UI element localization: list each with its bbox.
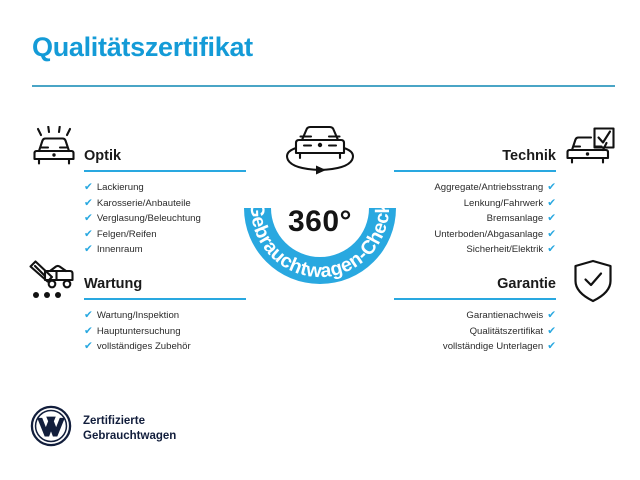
checklist-garantie: Garantienachweis✔ Qualitätszertifikat✔ v… [394,308,556,355]
qualitaetszertifikat-page: Qualitätszertifikat [0,0,640,480]
footer-line-1: Zertifizierte [83,414,176,429]
list-item-label: Hauptuntersuchung [97,326,181,337]
check-icon: ✔ [547,212,556,224]
section-title-wartung: Wartung [84,274,246,294]
check-icon: ✔ [547,325,556,337]
check-icon: ✔ [547,340,556,352]
section-divider-wartung [84,298,246,300]
list-item: vollständige Unterlagen✔ [394,339,556,355]
check-icon: ✔ [84,181,93,193]
section-header-garantie: Garantie [394,274,556,296]
list-item: Qualitätszertifikat✔ [394,324,556,340]
section-title-optik: Optik [84,146,246,166]
shield-check-icon [572,258,614,304]
list-item: Bremsanlage✔ [394,211,556,227]
check-icon: ✔ [84,309,93,321]
check-icon: ✔ [84,212,93,224]
check-icon: ✔ [547,243,556,255]
footer-line-2: Gebrauchtwagen [83,429,176,444]
list-item: ✔Innenraum [84,242,246,258]
car-rotate-360-icon [278,118,362,180]
list-item-label: Unterboden/Abgasanlage [434,229,543,240]
list-item-label: Garantienachweis [466,310,543,321]
check-icon: ✔ [84,197,93,209]
title-divider [32,85,615,87]
check-icon: ✔ [84,243,93,255]
badge-degrees-label: 360° [230,205,410,239]
section-title-technik: Technik [394,146,556,166]
section-header-wartung: Wartung [84,274,246,296]
list-item-label: Felgen/Reifen [97,229,157,240]
check-icon: ✔ [547,228,556,240]
list-item: ✔Lackierung [84,180,246,196]
section-garantie: Garantie Garantienachweis✔ Qualitätszert… [394,274,556,355]
list-item: Aggregate/Antriebsstrang✔ [394,180,556,196]
list-item-label: Innenraum [97,244,143,255]
footer-text: Zertifizierte Gebrauchtwagen [83,414,176,443]
section-header-optik: Optik [84,146,246,168]
section-divider-garantie [394,298,556,300]
check-icon: ✔ [84,228,93,240]
list-item-label: Lackierung [97,182,144,193]
list-item: ✔Verglasung/Beleuchtung [84,211,246,227]
section-title-garantie: Garantie [394,274,556,294]
list-item-label: vollständiges Zubehör [97,341,191,352]
list-item: Unterboden/Abgasanlage✔ [394,227,556,243]
footer-branding: Zertifizierte Gebrauchtwagen [30,405,176,452]
checklist-wartung: ✔Wartung/Inspektion ✔Hauptuntersuchung ✔… [84,308,246,355]
check-icon: ✔ [84,325,93,337]
list-item-label: Wartung/Inspektion [97,310,179,321]
vw-logo-icon [30,405,72,452]
section-header-technik: Technik [394,146,556,168]
list-item: ✔Hauptuntersuchung [84,324,246,340]
section-wartung: Wartung ✔Wartung/Inspektion ✔Hauptunters… [84,274,246,355]
check-icon: ✔ [547,197,556,209]
list-item-label: Qualitätszertifikat [470,326,544,337]
section-divider-optik [84,170,246,172]
list-item: Lenkung/Fahrwerk✔ [394,196,556,212]
section-technik: Technik Aggregate/Antriebsstrang✔ Lenkun… [394,146,556,258]
checklist-optik: ✔Lackierung ✔Karosserie/Anbauteile ✔Verg… [84,180,246,258]
list-item-label: vollständige Unterlagen [443,341,543,352]
section-divider-technik [394,170,556,172]
list-item-label: Sicherheit/Elektrik [466,244,543,255]
list-item: ✔Wartung/Inspektion [84,308,246,324]
list-item: ✔Felgen/Reifen [84,227,246,243]
list-item-label: Bremsanlage [487,213,544,224]
list-item-label: Verglasung/Beleuchtung [97,213,201,224]
car-wash-shine-icon [28,126,80,170]
page-title: Qualitätszertifikat [32,32,253,63]
list-item-label: Aggregate/Antriebsstrang [434,182,543,193]
check-icon: ✔ [547,309,556,321]
list-item: Sicherheit/Elektrik✔ [394,242,556,258]
list-item-label: Lenkung/Fahrwerk [464,198,543,209]
list-item-label: Karosserie/Anbauteile [97,198,191,209]
list-item: Garantienachweis✔ [394,308,556,324]
list-item: ✔Karosserie/Anbauteile [84,196,246,212]
checklist-technik: Aggregate/Antriebsstrang✔ Lenkung/Fahrwe… [394,180,556,258]
check-icon: ✔ [547,181,556,193]
car-service-tool-icon [26,258,78,306]
section-optik: Optik ✔Lackierung ✔Karosserie/Anbauteile… [84,146,246,258]
car-checkbox-icon [566,126,618,170]
check-icon: ✔ [84,340,93,352]
list-item: ✔vollständiges Zubehör [84,339,246,355]
